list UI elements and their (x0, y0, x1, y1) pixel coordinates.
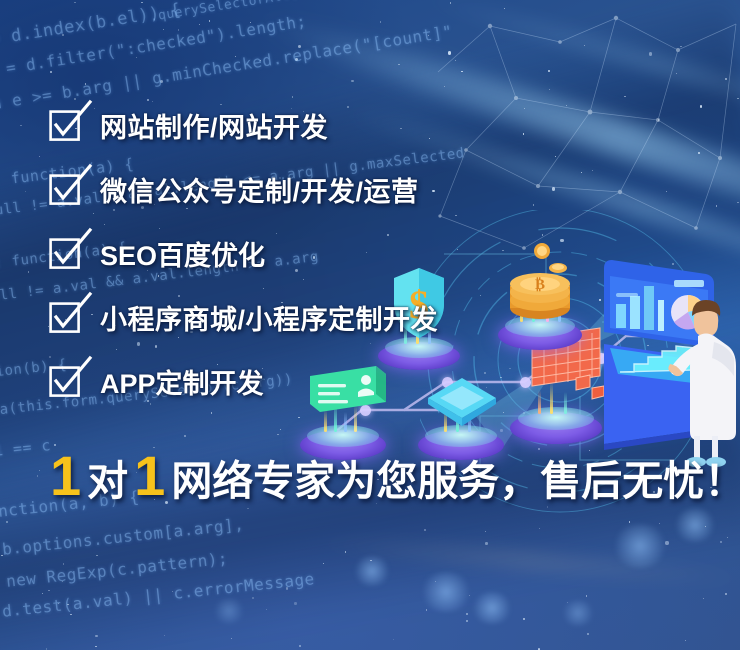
particle (260, 60, 261, 61)
checklist-item-label: 小程序商城/小程序定制开发 (100, 298, 438, 337)
code-line: = d.index(b.el)) { (0, 0, 182, 50)
particle (466, 613, 468, 615)
particle (247, 508, 248, 509)
checklist-item-website[interactable]: 网站制作/网站开发 (52, 98, 438, 152)
particle (523, 133, 524, 134)
particle (380, 21, 381, 22)
bokeh-blob (610, 524, 670, 568)
particle (552, 187, 555, 190)
service-checklist: 网站制作/网站开发 微信公众号定制/开发/运营 SEO百度优化 (52, 98, 438, 418)
particle (96, 555, 97, 556)
particle (351, 80, 353, 82)
particle (398, 64, 399, 65)
particle (725, 593, 727, 595)
particle (393, 639, 394, 640)
coin-stack-icon: ₿ (494, 242, 586, 326)
particle (542, 234, 543, 235)
particle (547, 506, 548, 507)
particle (178, 29, 179, 30)
promo-banner: .querySelectorAll('input[type=checkbox]'… (0, 0, 740, 650)
particle (624, 96, 625, 97)
particle (63, 563, 64, 564)
checklist-item-label: SEO百度优化 (100, 234, 265, 273)
particle (39, 156, 40, 157)
headline-mid-word: 对 (87, 461, 128, 502)
particle (665, 541, 668, 544)
checkbox-checked-icon[interactable] (52, 110, 82, 140)
particle (199, 24, 200, 25)
particle (424, 529, 426, 531)
particle (586, 595, 587, 596)
particle (426, 609, 427, 610)
checklist-item-wechat[interactable]: 微信公众号定制/开发/运营 (52, 162, 438, 216)
headline-tail-text: 网络专家为您服务，售后无忧！ (171, 461, 740, 502)
particle (680, 46, 681, 47)
particle (737, 98, 738, 99)
particle (209, 20, 210, 21)
particle (299, 645, 301, 647)
checkbox-checked-icon[interactable] (52, 366, 82, 396)
page-title: 1 对 1 网络专家为您服务，售后无忧！ (50, 448, 740, 504)
particle (250, 22, 251, 23)
checklist-item-seo[interactable]: SEO百度优化 (52, 226, 438, 280)
particle (649, 52, 652, 55)
checkbox-checked-icon[interactable] (52, 174, 82, 204)
particle (658, 119, 659, 120)
particle (703, 598, 704, 599)
checklist-item-label: 网站制作/网站开发 (100, 106, 328, 145)
particle (485, 542, 487, 544)
particle (70, 614, 71, 615)
particle (720, 541, 721, 542)
particle (62, 34, 64, 36)
particle (700, 105, 702, 107)
particle (163, 29, 164, 30)
bokeh-blob (212, 598, 246, 624)
particle (95, 635, 97, 637)
checkbox-checked-icon[interactable] (52, 238, 82, 268)
particle (231, 638, 232, 639)
bokeh-blob (352, 556, 392, 586)
svg-text:₿: ₿ (535, 277, 545, 293)
checklist-item-label: APP定制开发 (100, 362, 264, 401)
bokeh-blob (560, 600, 596, 626)
bokeh-blob (418, 572, 474, 612)
analyst-person (668, 286, 740, 468)
particle (587, 633, 589, 635)
particle (136, 57, 137, 58)
particle (298, 45, 301, 48)
particle (294, 602, 296, 604)
particle (295, 58, 298, 61)
particle (160, 80, 163, 83)
checklist-item-label: 微信公众号定制/开发/运营 (100, 170, 419, 209)
floating-coin (534, 243, 567, 273)
particle (286, 587, 288, 589)
particle (523, 618, 524, 619)
bokeh-blob (672, 508, 718, 542)
particle (141, 2, 142, 3)
particle (74, 2, 75, 3)
particle (48, 590, 49, 591)
checklist-item-miniprogram[interactable]: 小程序商城/小程序定制开发 (52, 290, 438, 344)
particle (95, 646, 96, 647)
particle (20, 125, 21, 126)
particle (235, 56, 236, 57)
particle (172, 591, 173, 592)
bokeh-blob (470, 592, 514, 624)
particle (85, 83, 86, 84)
particle (533, 204, 534, 205)
headline-number-second: 1 (134, 448, 165, 504)
headline-number-first: 1 (50, 448, 81, 504)
particle (466, 620, 467, 621)
particle (716, 205, 717, 206)
particle (685, 640, 686, 641)
particle (461, 71, 462, 72)
particle (370, 560, 371, 561)
checklist-item-app[interactable]: APP定制开发 (52, 354, 438, 408)
checkbox-checked-icon[interactable] (52, 302, 82, 332)
particle (50, 71, 52, 73)
